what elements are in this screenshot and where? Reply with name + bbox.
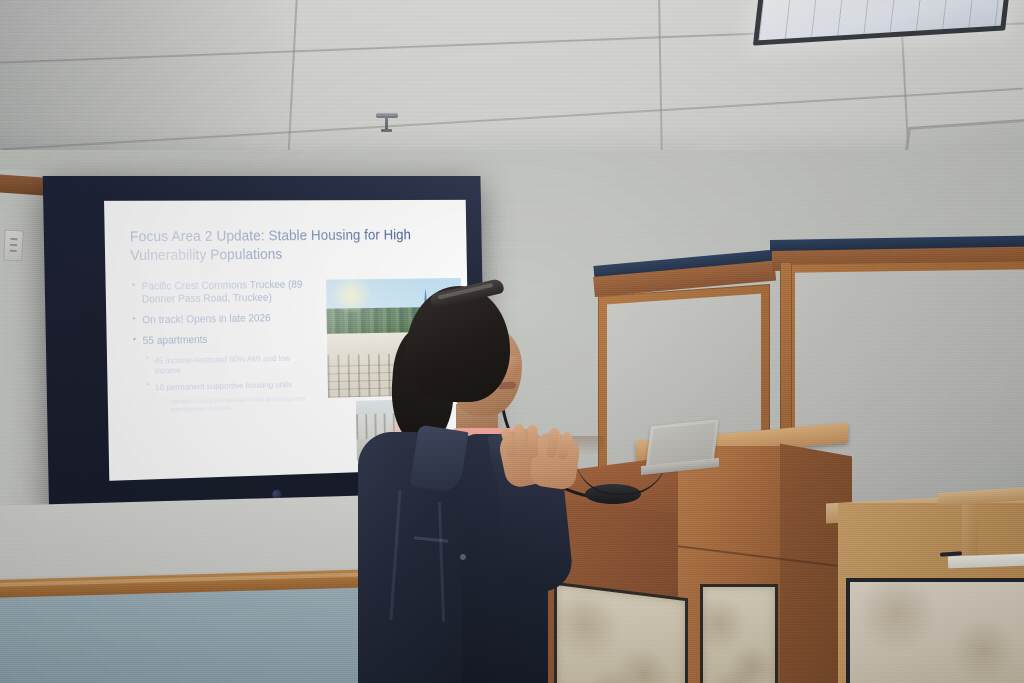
slide-bullet: Pacific Crest Commons Truckee (89 Donner… (131, 278, 308, 307)
slide-sub-sub-bullet: Nevada County Behavioral Health providin… (162, 395, 310, 415)
slide-bullet: 55 apartments (132, 332, 309, 349)
presentation-room-photo: Focus Area 2 Update: Stable Housing for … (0, 0, 1024, 683)
wall-outlet-plate (3, 230, 24, 262)
finger (527, 425, 538, 458)
slide-bullet: On track! Opens in late 2026 (131, 312, 308, 328)
hair (406, 286, 510, 402)
speaker-person (352, 282, 582, 683)
slide-title: Focus Area 2 Update: Stable Housing for … (130, 227, 412, 267)
slide-bullet-list: Pacific Crest Commons Truckee (89 Donner… (131, 278, 310, 416)
sprinkler-deflector (381, 129, 392, 132)
slide-sub-bullet: 45 income-restricted 60% AMI and low inc… (146, 352, 309, 377)
jacket-button (460, 554, 466, 560)
podium-stone-panel (700, 584, 778, 683)
slide-sub-bullet: 10 permanent supportive housing units (146, 379, 309, 393)
fire-sprinkler-head (376, 113, 398, 135)
railing-post (962, 495, 978, 561)
dais-stone-panel (846, 578, 1024, 683)
